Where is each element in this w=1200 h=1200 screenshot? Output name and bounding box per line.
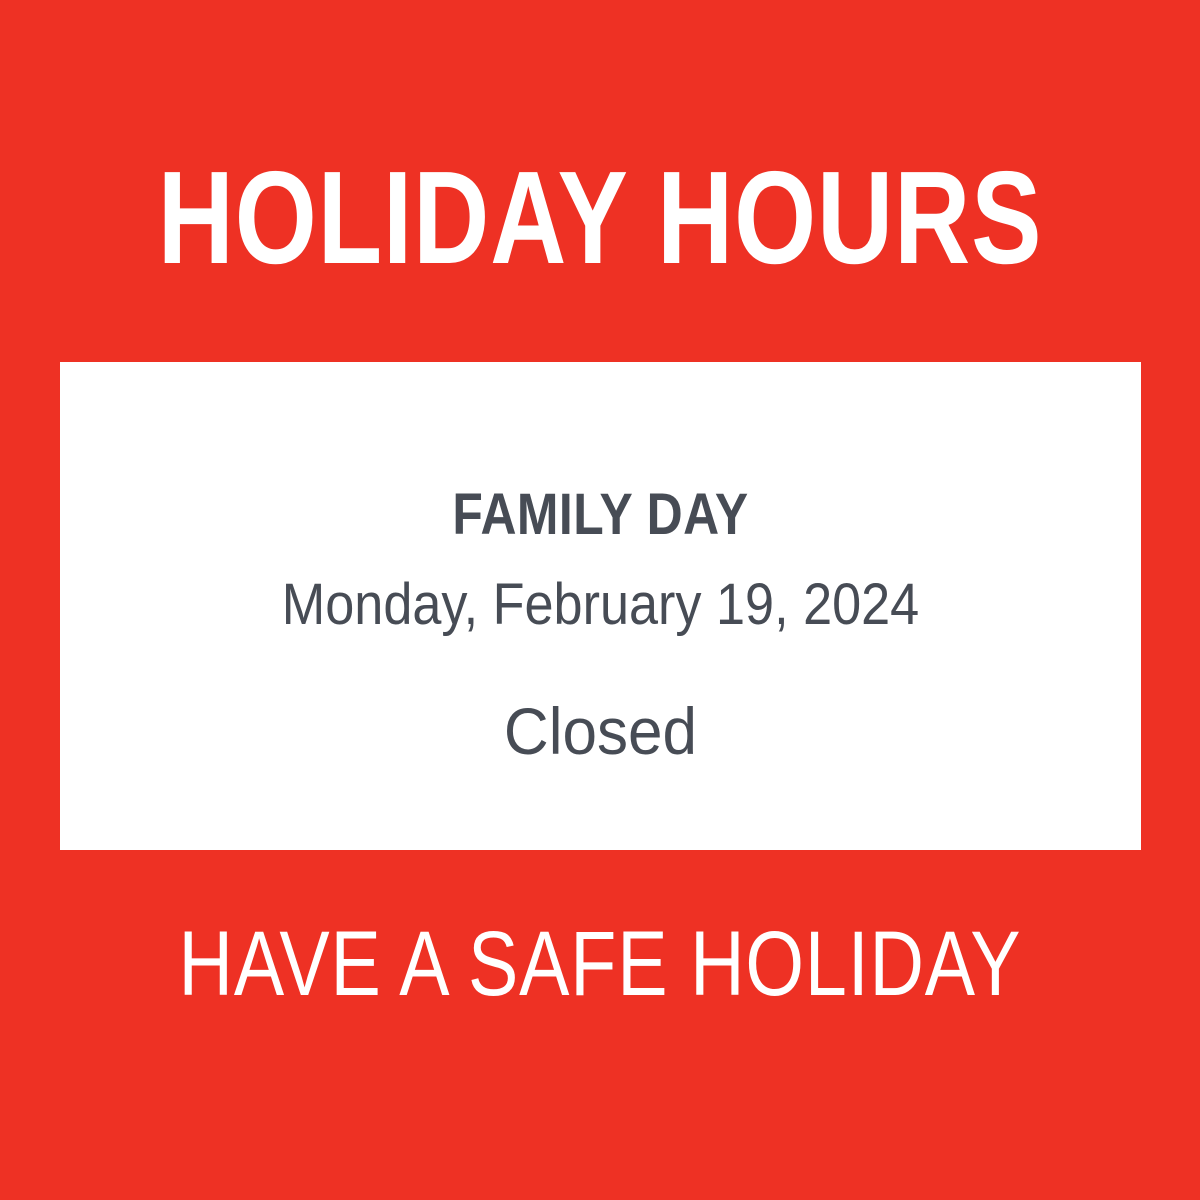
holiday-hours-poster: HOLIDAY HOURS FAMILY DAY Monday, Februar… [0,0,1200,1200]
holiday-info-card: FAMILY DAY Monday, February 19, 2024 Clo… [60,362,1141,850]
page-title: HOLIDAY HOURS [120,152,1080,284]
footer-message: HAVE A SAFE HOLIDAY [108,918,1092,1010]
holiday-info-card-content: FAMILY DAY Monday, February 19, 2024 Clo… [60,362,1141,850]
holiday-status: Closed [92,698,1108,764]
holiday-name: FAMILY DAY [136,486,1066,544]
holiday-date: Monday, February 19, 2024 [114,576,1087,634]
